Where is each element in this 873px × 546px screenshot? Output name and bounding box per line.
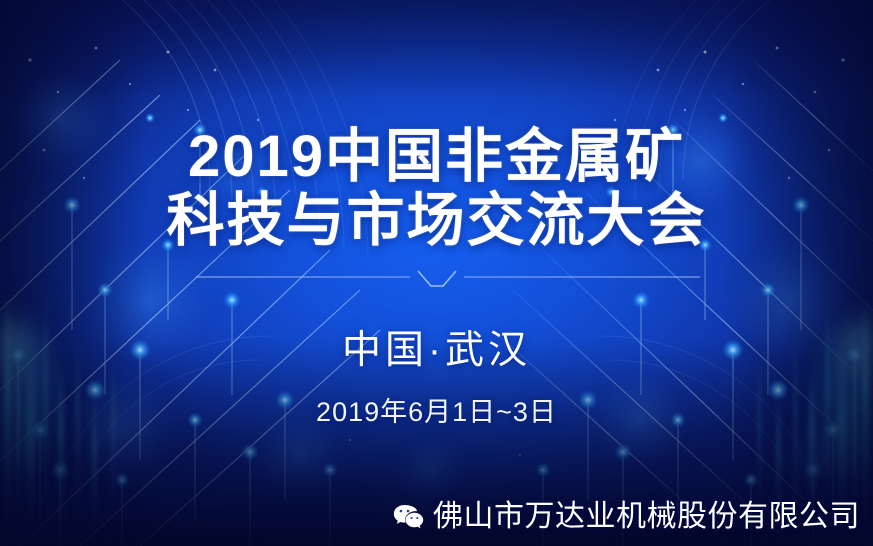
wechat-footer: 佛山市万达业机械股份有限公司	[393, 500, 860, 534]
company-name: 佛山市万达业机械股份有限公司	[433, 500, 860, 534]
poster-location: 中国·武汉	[0, 328, 873, 374]
poster-canvas: 2019中国非金属矿 科技与市场交流大会 中国·武汉 2019年6月1日~3日 …	[0, 0, 873, 546]
poster-title-line-2: 科技与市场交流大会	[0, 190, 873, 252]
poster-date: 2019年6月1日~3日	[0, 396, 873, 428]
wechat-icon	[393, 504, 424, 530]
title-divider	[138, 271, 760, 286]
background-graphics	[0, 0, 873, 546]
poster-title-line-1: 2019中国非金属矿	[0, 126, 873, 188]
